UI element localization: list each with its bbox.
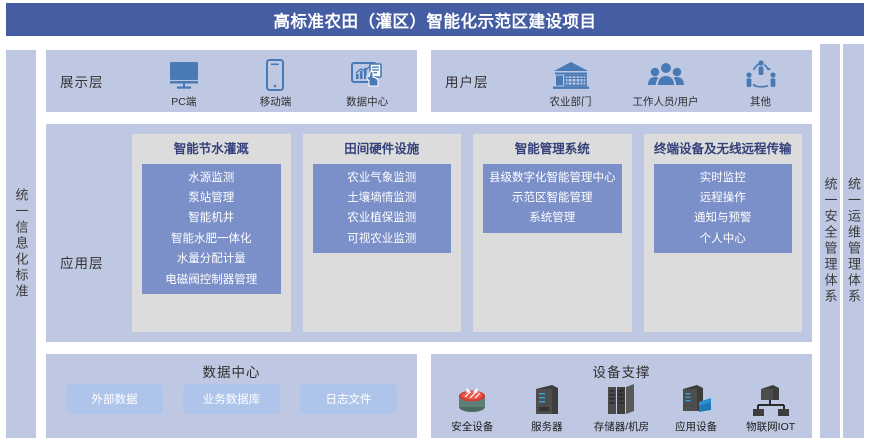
app-item[interactable]: 实时监控 <box>700 171 746 185</box>
app-item[interactable]: 农业植保监测 <box>347 211 416 225</box>
right-rail-security-label: 统一安全管理体系 <box>824 177 837 305</box>
user-layer-band: 用户层 农业部门 <box>431 50 812 112</box>
display-item-data-center[interactable]: 数据中心 <box>329 53 405 109</box>
app-column-items: 县级数字化智能管理中心 示范区智能管理 系统管理 <box>483 164 622 233</box>
user-item-agri-dept[interactable]: 农业部门 <box>533 53 609 109</box>
device-support-band: 设备支撑 <box>431 354 812 438</box>
app-column-items: 实时监控 远程操作 通知与预警 个人中心 <box>654 164 793 254</box>
app-column-field-hardware: 田间硬件设施 农业气象监测 土壤墒情监测 农业植保监测 可视农业监测 <box>303 134 462 332</box>
app-column-title: 智能管理系统 <box>515 142 590 158</box>
app-item[interactable]: 通知与预警 <box>694 211 752 225</box>
app-column-items: 水源监测 泵站管理 智能机井 智能水肥一体化 水量分配计量 电磁阀控制器管理 <box>142 164 281 294</box>
monitor-icon <box>167 58 201 92</box>
right-rail-operations-label: 统一运维管理体系 <box>847 177 860 305</box>
data-dashboard-icon <box>350 58 384 92</box>
page-title-bar: 高标准农田（灌区）智能化示范区建设项目 <box>6 3 864 36</box>
right-rail-security: 统一安全管理体系 <box>820 44 840 438</box>
people-cycle-icon <box>743 58 779 92</box>
display-layer-band: 展示层 PC端 <box>46 50 417 112</box>
user-item-other-caption: 其他 <box>750 94 771 109</box>
architecture-diagram: 高标准农田（灌区）智能化示范区建设项目 统一信息化标准 统一安全管理体系 统一运… <box>0 0 870 445</box>
app-item[interactable]: 水量分配计量 <box>177 252 246 266</box>
user-item-agri-dept-caption: 农业部门 <box>550 94 592 109</box>
user-item-other[interactable]: 其他 <box>723 53 799 109</box>
display-item-data-center-caption: 数据中心 <box>346 94 388 109</box>
data-center-title: 数据中心 <box>46 361 417 381</box>
data-center-item-business-db[interactable]: 业务数据库 <box>183 384 280 414</box>
right-rail-operations: 统一运维管理体系 <box>843 44 864 438</box>
display-item-pc[interactable]: PC端 <box>146 53 222 109</box>
security-router-icon <box>451 379 493 417</box>
application-layer-label: 应用层 <box>60 252 104 272</box>
application-device-icon <box>677 379 715 417</box>
data-center-item-external[interactable]: 外部数据 <box>66 384 163 414</box>
display-item-mobile-caption: 移动端 <box>260 94 292 109</box>
user-item-staff[interactable]: 工作人员/用户 <box>628 53 704 109</box>
device-item-server-caption: 服务器 <box>531 419 563 434</box>
government-building-icon <box>551 58 591 92</box>
device-item-security[interactable]: 安全设备 <box>436 379 508 434</box>
app-column-terminal-transmission: 终端设备及无线远程传输 实时监控 远程操作 通知与预警 个人中心 <box>644 134 803 332</box>
app-item[interactable]: 可视农业监测 <box>347 232 416 246</box>
app-item[interactable]: 农业气象监测 <box>347 171 416 185</box>
mobile-phone-icon <box>265 58 285 92</box>
device-item-storage-caption: 存储器/机房 <box>594 419 649 434</box>
page-title: 高标准农田（灌区）智能化示范区建设项目 <box>274 8 597 32</box>
device-item-server[interactable]: 服务器 <box>511 379 583 434</box>
device-item-application[interactable]: 应用设备 <box>660 379 732 434</box>
user-layer-label: 用户层 <box>445 71 489 91</box>
iot-network-icon <box>751 379 791 417</box>
device-item-application-caption: 应用设备 <box>675 419 717 434</box>
user-item-staff-caption: 工作人员/用户 <box>633 94 699 109</box>
data-center-item-logs[interactable]: 日志文件 <box>300 384 397 414</box>
app-item[interactable]: 智能机井 <box>188 211 234 225</box>
app-item[interactable]: 泵站管理 <box>188 191 234 205</box>
app-item[interactable]: 系统管理 <box>529 211 575 225</box>
device-support-items: 安全设备 服务器 <box>435 380 808 434</box>
data-center-items: 外部数据 业务数据库 日志文件 <box>56 384 407 414</box>
data-center-band: 数据中心 外部数据 业务数据库 日志文件 <box>46 354 417 438</box>
device-item-storage[interactable]: 存储器/机房 <box>585 379 657 434</box>
left-rail-label: 统一信息化标准 <box>15 188 28 300</box>
display-layer-items: PC端 移动端 <box>138 50 413 112</box>
device-item-iot-caption: 物联网IOT <box>746 419 795 434</box>
app-item[interactable]: 土壤墒情监测 <box>347 191 416 205</box>
device-support-title: 设备支撑 <box>431 361 812 381</box>
app-item[interactable]: 县级数字化智能管理中心 <box>489 171 616 185</box>
app-item[interactable]: 电磁阀控制器管理 <box>165 273 257 287</box>
app-item[interactable]: 智能水肥一体化 <box>171 232 252 246</box>
server-icon <box>530 379 564 417</box>
app-column-title: 田间硬件设施 <box>344 142 419 158</box>
user-layer-items: 农业部门 工作人员/用户 <box>523 50 808 112</box>
app-item[interactable]: 远程操作 <box>700 191 746 205</box>
display-item-mobile[interactable]: 移动端 <box>237 53 313 109</box>
app-column-items: 农业气象监测 土壤墒情监测 农业植保监测 可视农业监测 <box>313 164 452 254</box>
app-column-title: 终端设备及无线远程传输 <box>654 142 792 158</box>
app-item[interactable]: 个人中心 <box>700 232 746 246</box>
app-column-smart-irrigation: 智能节水灌溉 水源监测 泵站管理 智能机井 智能水肥一体化 水量分配计量 电磁阀… <box>132 134 291 332</box>
display-layer-label: 展示层 <box>60 71 104 91</box>
display-item-pc-caption: PC端 <box>171 94 196 109</box>
app-column-management-system: 智能管理系统 县级数字化智能管理中心 示范区智能管理 系统管理 <box>473 134 632 332</box>
app-column-title: 智能节水灌溉 <box>174 142 249 158</box>
application-layer-columns: 智能节水灌溉 水源监测 泵站管理 智能机井 智能水肥一体化 水量分配计量 电磁阀… <box>132 134 802 332</box>
app-item[interactable]: 水源监测 <box>188 171 234 185</box>
people-group-icon <box>647 58 685 92</box>
app-item[interactable]: 示范区智能管理 <box>512 191 593 205</box>
device-item-iot[interactable]: 物联网IOT <box>735 379 807 434</box>
storage-rack-icon <box>603 379 639 417</box>
device-item-security-caption: 安全设备 <box>451 419 493 434</box>
left-rail-standard: 统一信息化标准 <box>6 50 36 438</box>
application-layer-band: 应用层 智能节水灌溉 水源监测 泵站管理 智能机井 智能水肥一体化 水量分配计量… <box>46 124 812 342</box>
